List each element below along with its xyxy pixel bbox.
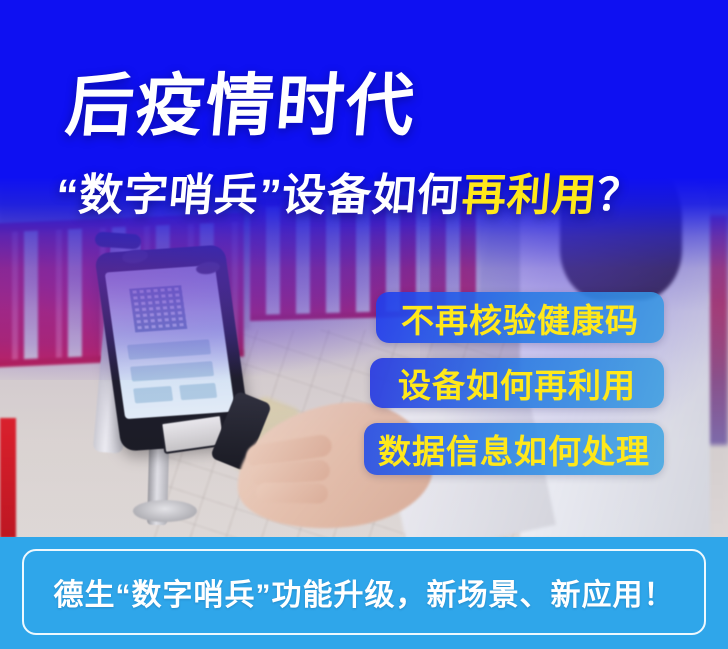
subtitle-prefix: “数字哨兵”设备如何 — [54, 171, 464, 220]
subtitle-highlight: 再利用 — [460, 171, 599, 220]
page-title: 后疫情时代 — [63, 72, 419, 140]
banner-frame: 德生“数字哨兵”功能升级，新场景、新应用！ — [22, 549, 706, 635]
topic-pill-no-health-code[interactable]: 不再核验健康码 — [376, 292, 664, 343]
topic-pill-data-handling[interactable]: 数据信息如何处理 — [364, 423, 664, 475]
page-subtitle: “数字哨兵”设备如何再利用？ — [54, 174, 644, 218]
topic-pill-device-reuse[interactable]: 设备如何再利用 — [370, 358, 664, 408]
bottom-banner: 德生“数字哨兵”功能升级，新场景、新应用！ — [0, 537, 728, 649]
subtitle-suffix: ？ — [595, 171, 644, 220]
poster-image: 后疫情时代 “数字哨兵”设备如何再利用？ 不再核验健康码 设备如何再利用 数据信… — [0, 0, 728, 649]
banner-text: 德生“数字哨兵”功能升级，新场景、新应用！ — [54, 570, 675, 614]
